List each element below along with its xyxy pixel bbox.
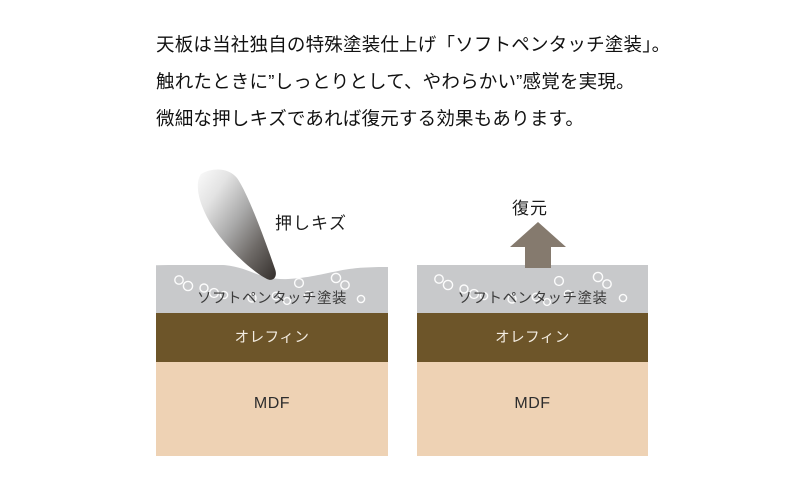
layer-label-mdf-left: MDF <box>254 395 290 413</box>
layer-label-coating-right: ソフトペンタッチ塗装 <box>458 287 608 308</box>
callout-label-recover: 復元 <box>512 194 548 219</box>
layer-coating-right: ソフトペンタッチ塗装 <box>417 265 648 313</box>
layer-label-coating-left: ソフトペンタッチ塗装 <box>197 287 347 308</box>
layer-label-olefin-left: オレフィン <box>235 326 310 347</box>
layer-olefin-left: オレフィン <box>156 313 388 362</box>
pen-tip-icon <box>183 166 298 284</box>
diagram-canvas: 天板は当社独自の特殊塗装仕上げ「ソフトペンタッチ塗装」。 触れたときに”しっとり… <box>0 0 800 495</box>
up-arrow-icon <box>508 222 568 268</box>
panel-dented: ソフトペンタッチ塗装 オレフィン MDF <box>156 265 388 456</box>
panel-restored: ソフトペンタッチ塗装 オレフィン MDF <box>417 265 648 456</box>
layer-olefin-right: オレフィン <box>417 313 648 362</box>
layer-label-mdf-right: MDF <box>514 395 550 413</box>
cross-section-diagram: ソフトペンタッチ塗装 オレフィン MDF 押しキズ <box>0 0 800 495</box>
layer-mdf-left: MDF <box>156 362 388 456</box>
layer-label-olefin-right: オレフィン <box>495 326 570 347</box>
layer-mdf-right: MDF <box>417 362 648 456</box>
